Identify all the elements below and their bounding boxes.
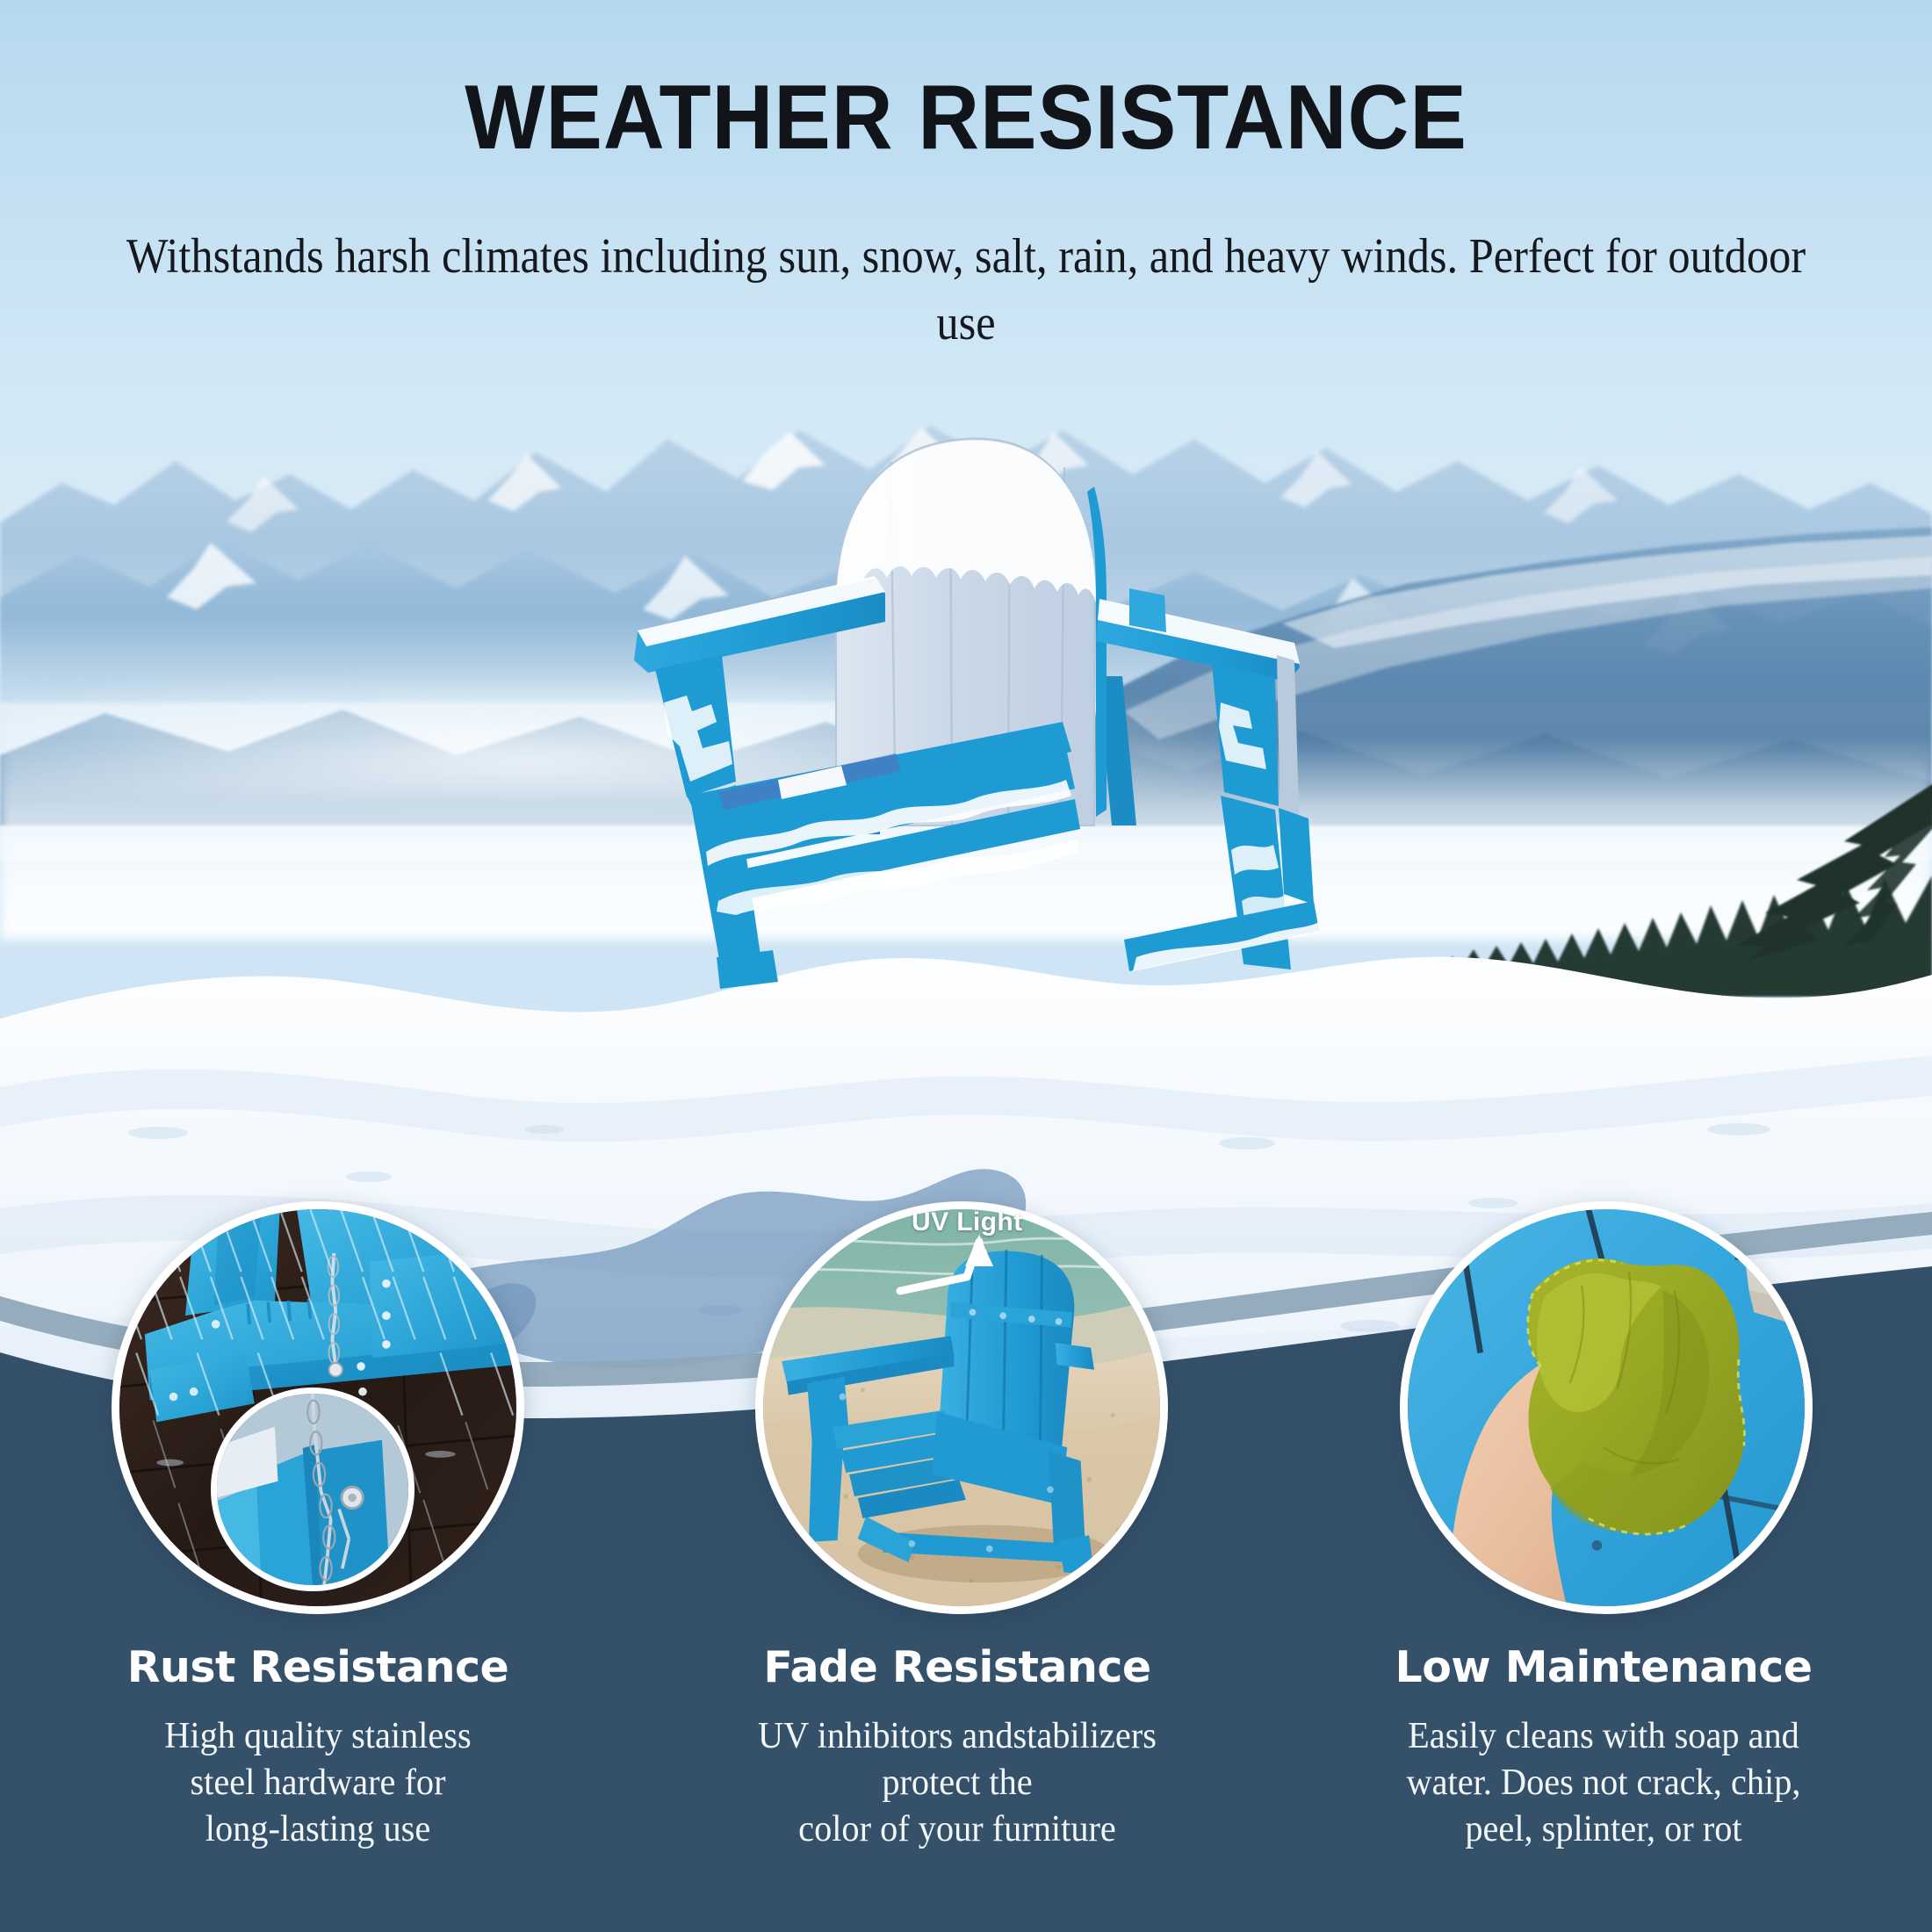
feature-description-rust-resistance: High quality stainless steel hardware fo… (90, 1713, 545, 1853)
uv-light-arrow (891, 1229, 1067, 1326)
feature-description-low-maintenance: Easily cleans with soap and water. Does … (1376, 1713, 1831, 1853)
cleaning-cloth-illustration (1408, 1209, 1805, 1606)
chain-closeup-illustration (217, 1394, 408, 1585)
feature-title-rust-resistance: Rust Resistance (81, 1642, 555, 1692)
page-title: WEATHER RESISTANCE (68, 68, 1864, 167)
hero-product-chair (606, 413, 1326, 1045)
feature-block-rust-resistance: Rust Resistance High quality stainless s… (81, 1642, 555, 1853)
feature-block-low-maintenance: Low Maintenance Easily cleans with soap … (1366, 1642, 1841, 1853)
feature-image-chain-closeup (211, 1388, 415, 1591)
feature-block-fade-resistance: Fade Resistance UV inhibitors andstabili… (720, 1642, 1194, 1853)
uv-light-label: UV Light (912, 1207, 1023, 1237)
page-subtitle: Withstands harsh climates including sun,… (97, 224, 1835, 357)
feature-title-fade-resistance: Fade Resistance (720, 1642, 1194, 1692)
feature-title-low-maintenance: Low Maintenance (1366, 1642, 1841, 1692)
feature-description-fade-resistance: UV inhibitors andstabilizers protect the… (730, 1713, 1185, 1853)
infographic-canvas: WEATHER RESISTANCE Withstands harsh clim… (0, 0, 1932, 1932)
feature-image-low-maintenance (1400, 1201, 1813, 1614)
